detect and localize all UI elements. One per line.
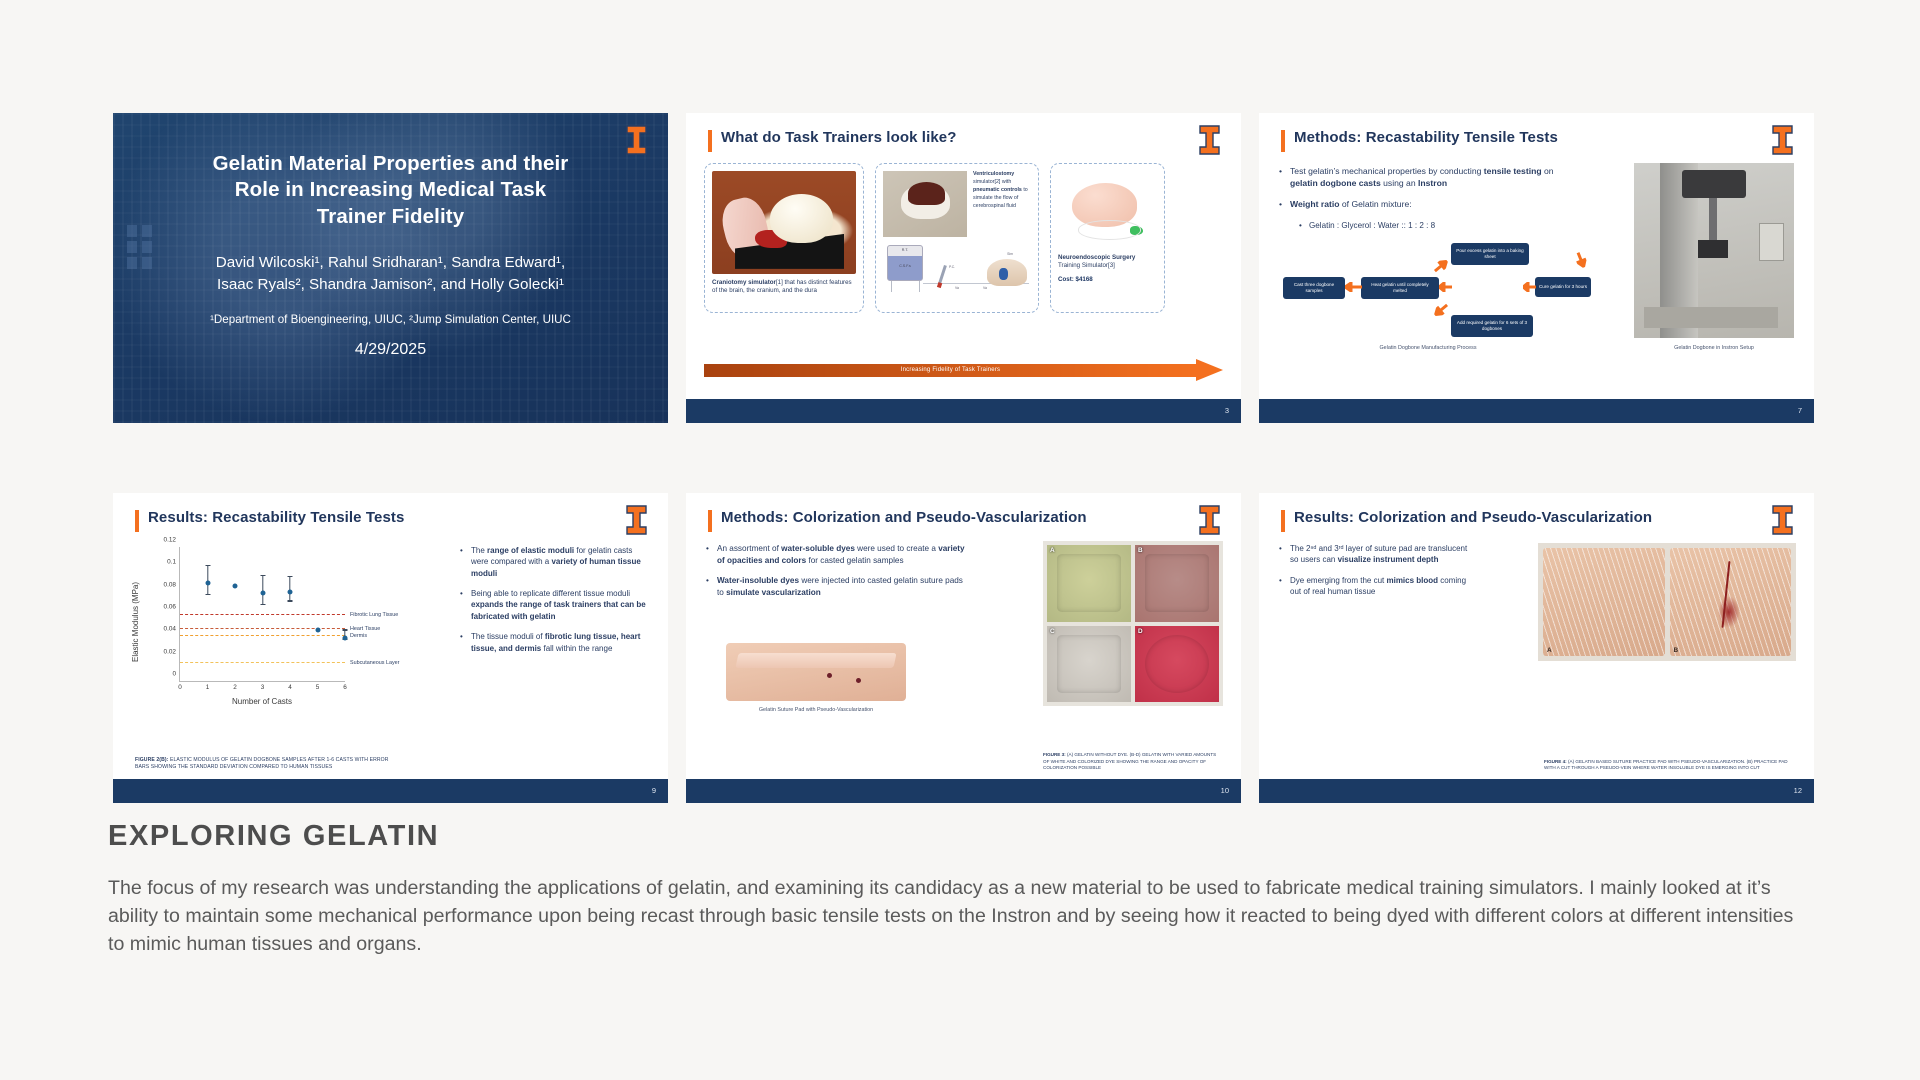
bullet-dot-icon: •	[460, 545, 471, 579]
bullet-item: • The tissue moduli of fibrotic lung tis…	[460, 631, 650, 654]
bullet-item: • The 2ⁿᵈ and 3ʳᵈ layer of suture pad ar…	[1279, 543, 1469, 566]
title-line-1: Gelatin Material Properties and their	[157, 151, 624, 177]
slide-title[interactable]: Gelatin Material Properties and their Ro…	[113, 113, 668, 423]
figure-caption-label: FIGURE 4:	[1544, 759, 1567, 764]
article-body-text: The focus of my research was understandi…	[108, 875, 1808, 958]
grid-label-c: C	[1050, 628, 1055, 635]
chart-y-tick-label: 0.02	[164, 648, 176, 655]
presentation-date: 4/29/2025	[157, 341, 624, 359]
simulator-cost: Cost: $4168	[1058, 276, 1157, 283]
chart-error-bar-cap	[288, 600, 293, 601]
figure-caption-text: (A) GELATIN BASED SUTURE PRACTICE PAD WI…	[1544, 759, 1788, 770]
bullet-dot-icon: •	[706, 543, 717, 566]
chart-y-tick-label: 0.1	[167, 559, 176, 566]
slide-header: Methods: Colorization and Pseudo-Vascula…	[708, 509, 1171, 532]
grid-label-d: D	[1138, 628, 1143, 635]
flow-box-add-required: Add required gelatin for 6 sets of 3 dog…	[1451, 315, 1533, 337]
slide-page-number: 3	[1225, 406, 1229, 415]
chart-x-tick-label: 6	[343, 684, 347, 691]
header-accent-bar	[1281, 130, 1285, 152]
header-accent-bar	[135, 510, 139, 532]
flow-arrow-to-heat	[1439, 282, 1452, 292]
slide-header: Results: Colorization and Pseudo-Vascula…	[1281, 509, 1744, 532]
illinois-block-i-icon	[1198, 125, 1221, 155]
figure-caption-text: ELASTIC MODULUS OF GELATIN DOGBONE SAMPL…	[135, 757, 389, 770]
grid-cell-a: A	[1047, 545, 1131, 622]
bullet-dot-icon: •	[1279, 165, 1290, 189]
grid-label-b: B	[1138, 547, 1143, 554]
chart-data-point	[315, 627, 320, 632]
methods-bullet-list: • Test gelatin’s mechanical properties b…	[1279, 165, 1571, 231]
slide-header-title: What do Task Trainers look like?	[721, 129, 956, 146]
flow-box-heat-gelatin: Heat gelatin until completely melted	[1361, 277, 1439, 299]
brain-label: Sim	[1007, 252, 1013, 256]
caption-bold: Neuroendoscopic Surgery	[1058, 254, 1135, 261]
title-line-3: Trainer Fidelity	[157, 204, 624, 230]
flow-arrow-to-cast	[1345, 282, 1362, 292]
chart-y-tick-label: 0.12	[164, 537, 176, 544]
bullet-dot-icon: •	[460, 631, 471, 654]
pneumatic-control-diagram: R.T. C.S.F.s P.C. Va Va Sim	[883, 243, 1031, 305]
author-list: David Wilcoski¹, Rahul Sridharan¹, Sandr…	[157, 252, 624, 296]
bullet-text: Test gelatin’s mechanical properties by …	[1290, 165, 1571, 189]
illinois-block-i-icon	[1771, 125, 1794, 155]
bullet-text: The range of elastic moduli for gelatin …	[471, 545, 650, 579]
chart-reference-line: Subcutaneous Layer	[180, 662, 345, 663]
header-accent-bar	[1281, 510, 1285, 532]
slide-header: Results: Recastability Tensile Tests	[135, 509, 598, 532]
instron-load-rod-shape	[1709, 198, 1717, 244]
chart-x-tick-label: 3	[261, 684, 265, 691]
bullet-dot-icon: •	[706, 575, 717, 598]
chart-y-tick-label: 0.06	[164, 604, 176, 611]
ventriculostomy-row: Ventriculostomy simulator[2] with pneuma…	[883, 171, 1031, 237]
illinois-block-i-icon	[1771, 505, 1794, 535]
slide-header-title: Results: Recastability Tensile Tests	[148, 509, 404, 526]
slide-header-title: Results: Colorization and Pseudo-Vascula…	[1294, 509, 1652, 526]
figure-caption-text: (A) GELATIN WITHOUT DYE. (B-D) GELATIN W…	[1043, 752, 1216, 769]
bullet-item: • The range of elastic moduli for gelati…	[460, 545, 650, 579]
figure-2b-caption: FIGURE 2(B): ELASTIC MODULUS OF GELATIN …	[135, 757, 403, 771]
bullet-item: • Water-insoluble dyes were injected int…	[706, 575, 966, 598]
task-trainer-card-neuroendoscopic[interactable]: Neuroendoscopic Surgery Training Simulat…	[1050, 163, 1165, 313]
grid-cell-c: C	[1047, 626, 1131, 703]
card-caption: Neuroendoscopic Surgery Training Simulat…	[1058, 254, 1157, 270]
slide-header-title: Methods: Colorization and Pseudo-Vascula…	[721, 509, 1087, 526]
pseudo-vein-dot-2	[856, 678, 861, 683]
slide-results-colorization[interactable]: Results: Colorization and Pseudo-Vascula…	[1259, 493, 1814, 803]
slide-page-number: 10	[1221, 786, 1229, 795]
slide-page-number: 9	[652, 786, 656, 795]
chart-data-point	[233, 584, 238, 589]
chart-y-tick-label: 0.04	[164, 626, 176, 633]
chart-data-point	[288, 589, 293, 594]
flow-box-cast-three: Cast three dogbone samples	[1283, 277, 1345, 299]
slide-gallery-page: Gelatin Material Properties and their Ro…	[0, 0, 1920, 1080]
figure-caption-label: FIGURE 2(B):	[135, 757, 168, 763]
suture-pad-b: B	[1670, 548, 1792, 656]
slide-methods-colorization[interactable]: Methods: Colorization and Pseudo-Vascula…	[686, 493, 1241, 803]
grid-label-a: A	[1050, 547, 1055, 554]
ventriculostomy-description: Ventriculostomy simulator[2] with pneuma…	[973, 171, 1031, 237]
desc-bold-2: pneumatic controls	[973, 187, 1022, 193]
chart-data-point	[205, 581, 210, 586]
instron-base-shape	[1644, 307, 1778, 328]
grid-cell-b: B	[1135, 545, 1219, 622]
figure-3-caption: FIGURE 3: (A) GELATIN WITHOUT DYE. (B-D)…	[1043, 752, 1223, 771]
chart-error-bar-cap	[260, 604, 265, 605]
results-colorization-bullet-list: • The 2ⁿᵈ and 3ʳᵈ layer of suture pad ar…	[1279, 543, 1469, 606]
tank-bottom-label: C.S.F.s	[888, 264, 922, 268]
cranium-shape	[770, 194, 833, 243]
chart-error-bar-cap	[205, 565, 210, 566]
bullet-text: The 2ⁿᵈ and 3ʳᵈ layer of suture pad are …	[1290, 543, 1469, 566]
chart-x-tick-label: 5	[316, 684, 320, 691]
pseudo-vein-dot-1	[827, 673, 832, 678]
chart-y-tick-label: 0.08	[164, 581, 176, 588]
bullet-dot-icon: •	[460, 588, 471, 622]
slide-footer-bar: 10	[686, 779, 1241, 803]
flow-box-cure-gelatin: Cure gelatin for 3 hours	[1535, 277, 1591, 297]
reservoir-tank-shape: R.T. C.S.F.s	[887, 245, 923, 281]
green-capsule-shape	[1130, 226, 1143, 235]
task-trainer-cards: Craniotomy simulator[1] that has distinc…	[704, 163, 1223, 313]
elastic-modulus-chart: Elastic Modulus (MPa) 00.020.040.060.080…	[133, 539, 433, 714]
chart-x-tick-label: 2	[233, 684, 237, 691]
valve-label-2: Va	[983, 286, 987, 290]
suture-pad-a: A	[1543, 548, 1665, 656]
chart-error-bar-cap	[260, 575, 265, 576]
article-section: EXPLORING GELATIN The focus of my resear…	[108, 820, 1868, 958]
arrow-label: Increasing Fidelity of Task Trainers	[704, 367, 1197, 373]
syringe-shape	[938, 265, 947, 284]
grid-cell-d: D	[1135, 626, 1219, 703]
chart-error-bar-cap	[288, 576, 293, 577]
pad-label-b: B	[1674, 647, 1679, 654]
author-line-2: Isaac Ryals², Shandra Jamison², and Holl…	[157, 274, 624, 296]
article-heading: EXPLORING GELATIN	[108, 820, 1868, 853]
tank-top-label: R.T.	[888, 248, 922, 252]
sub-bullet-dot-icon: •	[1299, 220, 1309, 231]
desc-bold-1: Ventriculostomy	[973, 171, 1014, 177]
tank-leg-left	[891, 281, 892, 292]
chart-reference-line: Dermis	[180, 635, 345, 636]
author-line-1: David Wilcoski¹, Rahul Sridharan¹, Sandr…	[157, 252, 624, 274]
results-bullet-list: • The range of elastic moduli for gelati…	[460, 545, 650, 663]
flowchart-caption: Gelatin Dogbone Manufacturing Process	[1283, 345, 1573, 351]
chart-y-axis-label: Elastic Modulus (MPa)	[131, 557, 140, 687]
bullet-text: The tissue moduli of fibrotic lung tissu…	[471, 631, 650, 654]
instron-setup-photo	[1634, 163, 1794, 338]
figure-caption-label: FIGURE 3:	[1043, 752, 1066, 757]
slide-header: What do Task Trainers look like?	[708, 129, 1171, 152]
slide-page-number: 12	[1794, 786, 1802, 795]
title-line-2: Role in Increasing Medical Task	[157, 177, 624, 203]
ventriculostomy-simulator-photo	[883, 171, 967, 237]
caption-bold: Craniotomy simulator	[712, 279, 776, 286]
task-trainer-card-craniotomy[interactable]: Craniotomy simulator[1] that has distinc…	[704, 163, 864, 313]
bullet-text: Weight ratio of Gelatin mixture:	[1290, 198, 1412, 210]
chart-reference-line: Heart Tissue	[180, 628, 345, 629]
chart-data-point	[343, 635, 348, 640]
slide-footer-bar: 3	[686, 399, 1241, 423]
pad-label-a: A	[1547, 647, 1552, 654]
slide-results-recastability[interactable]: Results: Recastability Tensile Tests Ela…	[113, 493, 668, 803]
bullet-dot-icon: •	[1279, 575, 1290, 598]
bullet-item: • Weight ratio of Gelatin mixture:	[1279, 198, 1571, 210]
chart-reference-line-label: Heart Tissue	[350, 626, 380, 632]
presentation-title: Gelatin Material Properties and their Ro…	[157, 151, 624, 230]
chart-x-tick-label: 0	[178, 684, 182, 691]
title-text-group: Gelatin Material Properties and their Ro…	[113, 113, 668, 359]
instron-control-panel-shape	[1759, 223, 1785, 262]
flow-arrow-add-to-heat	[1432, 301, 1451, 319]
slide-page-number: 7	[1798, 406, 1802, 415]
bullet-item: • An assortment of water-soluble dyes we…	[706, 543, 966, 566]
slide-footer-bar: 7	[1259, 399, 1814, 423]
task-trainer-card-ventriculostomy[interactable]: Ventriculostomy simulator[2] with pneuma…	[875, 163, 1039, 313]
header-accent-bar	[708, 130, 712, 152]
instron-crosshead-shape	[1682, 170, 1746, 198]
suture-pad-results-photo: A B	[1538, 543, 1796, 661]
manufacturing-flowchart: Pour excess gelatin into a baking sheet …	[1283, 243, 1573, 338]
bullet-text: Dye emerging from the cut mimics blood c…	[1290, 575, 1469, 598]
illinois-block-i-icon	[625, 125, 648, 155]
chart-reference-line-label: Subcutaneous Layer	[350, 660, 399, 666]
colorization-bullet-list: • An assortment of water-soluble dyes we…	[706, 543, 966, 608]
slide-methods-recastability[interactable]: Methods: Recastability Tensile Tests • T…	[1259, 113, 1814, 423]
bullet-item: • Test gelatin’s mechanical properties b…	[1279, 165, 1571, 189]
instron-photo-caption: Gelatin Dogbone in Instron Setup	[1634, 345, 1794, 351]
simulated-brain-shape	[987, 259, 1027, 286]
chart-x-tick-label: 4	[288, 684, 292, 691]
bullet-text: An assortment of water-soluble dyes were…	[717, 543, 966, 566]
affiliation-line: ¹Department of Bioengineering, UIUC, ²Ju…	[157, 313, 624, 326]
gelatin-colorization-grid-photo: A B C D	[1043, 541, 1223, 706]
arrow-head-icon	[1196, 359, 1223, 381]
flow-box-pour-excess: Pour excess gelatin into a baking sheet	[1451, 243, 1529, 265]
chart-error-bar-cap	[343, 629, 348, 630]
slide-header: Methods: Recastability Tensile Tests	[1281, 129, 1744, 152]
chart-data-point	[260, 591, 265, 596]
illinois-block-i-icon	[1198, 505, 1221, 535]
chart-x-tick-label: 1	[206, 684, 210, 691]
bullet-text: Water-insoluble dyes were injected into …	[717, 575, 966, 598]
chart-error-bar-cap	[205, 594, 210, 595]
tank-leg-right	[919, 281, 920, 292]
bullet-dot-icon: •	[1279, 543, 1290, 566]
card-caption: Craniotomy simulator[1] that has distinc…	[712, 279, 856, 295]
chart-plot-area: 00.020.040.060.080.10.120123456Fibrotic …	[179, 547, 345, 682]
neuroendoscopic-simulator-photo	[1058, 171, 1157, 249]
bullet-dot-icon: •	[1279, 198, 1290, 210]
caption-rest: Training Simulator[3]	[1058, 262, 1115, 269]
craniotomy-simulator-photo	[712, 171, 856, 274]
slide-task-trainers[interactable]: What do Task Trainers look like? Craniot…	[686, 113, 1241, 423]
suture-pad-caption: Gelatin Suture Pad with Pseudo-Vasculari…	[726, 707, 906, 713]
bullet-item: • Dye emerging from the cut mimics blood…	[1279, 575, 1469, 598]
chart-y-tick-label: 0	[172, 671, 176, 678]
chart-x-axis-label: Number of Casts	[179, 697, 345, 706]
flow-arrow-heat-to-pour	[1432, 257, 1451, 275]
bullet-item: • Being able to replicate different tiss…	[460, 588, 650, 622]
chart-reference-line-label: Dermis	[350, 633, 367, 639]
gelatin-suture-pad-photo	[726, 643, 906, 701]
slide-footer-bar: 12	[1259, 779, 1814, 803]
sub-bullet-text: Gelatin : Glycerol : Water :: 1 : 2 : 8	[1309, 220, 1435, 231]
slide-footer-bar: 9	[113, 779, 668, 803]
syringe-label: P.C.	[949, 265, 955, 269]
valve-label-1: Va	[955, 286, 959, 290]
header-accent-bar	[708, 510, 712, 532]
fidelity-arrow: Increasing Fidelity of Task Trainers	[704, 359, 1223, 383]
bullet-text: Being able to replicate different tissue…	[471, 588, 650, 622]
figure-4-caption: FIGURE 4: (A) GELATIN BASED SUTURE PRACT…	[1544, 759, 1796, 771]
desc-rest-1: simulator[2] with	[973, 179, 1011, 185]
illinois-block-i-icon	[625, 505, 648, 535]
slide-grid: Gelatin Material Properties and their Ro…	[113, 113, 1813, 803]
instron-grip-shape	[1698, 240, 1728, 258]
flow-arrow-pour-to-cure	[1573, 251, 1588, 270]
chart-reference-line: Fibrotic Lung Tissue	[180, 614, 345, 615]
flow-arrow-cure-to-heat	[1523, 282, 1536, 292]
slide-header-title: Methods: Recastability Tensile Tests	[1294, 129, 1558, 146]
chart-reference-line-label: Fibrotic Lung Tissue	[350, 612, 398, 618]
sub-bullet-item: • Gelatin : Glycerol : Water :: 1 : 2 : …	[1299, 220, 1571, 231]
